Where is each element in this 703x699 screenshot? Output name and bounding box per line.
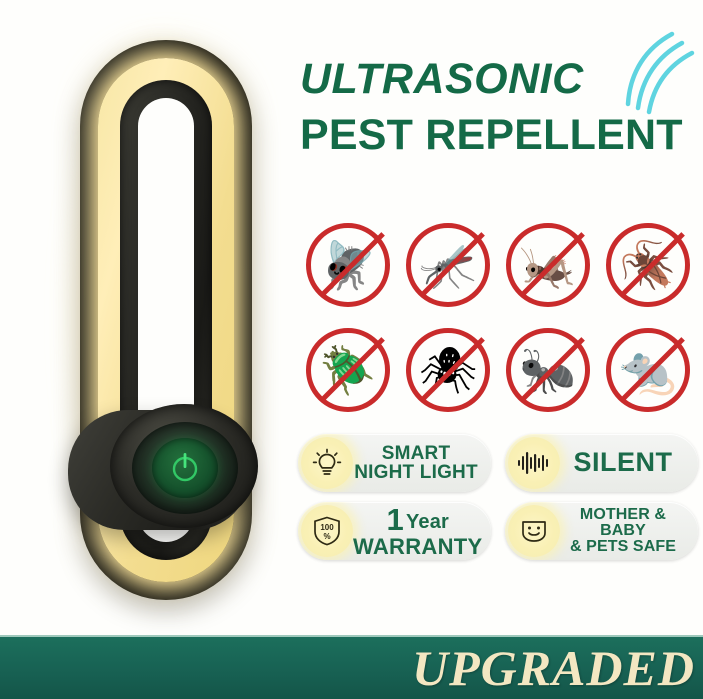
feature-badge-silent: SILENT [505,434,698,492]
pest-item-mouse: 🐀 [598,317,698,422]
pest-item-flea: 🪲 [298,317,398,422]
product-device [28,18,288,618]
upgraded-banner: UPGRADED [0,635,703,699]
pest-item-spider: 🕷 [398,317,498,422]
prohibition-icon [306,328,390,412]
advertisement-canvas: ULTRASONIC PEST REPELLENT 🪰 🦟 🦗 🪳 [0,0,703,699]
svg-text:100: 100 [320,523,334,532]
shield-100-percent-icon: 100 % [301,505,353,557]
warranty-line-2: WARRANTY [353,536,483,558]
prohibition-icon [406,223,490,307]
feature-badge-label: SILENT [560,449,686,477]
prohibition-icon [606,223,690,307]
lightbulb-icon [301,437,353,489]
feature-badge-safe: MOTHER & BABY & PETS SAFE [505,502,698,560]
svg-text:%: % [323,532,330,541]
prohibition-icon [606,328,690,412]
warranty-number: 1 [386,502,403,537]
prohibition-icon [506,328,590,412]
prohibition-icon [406,328,490,412]
pest-item-cockroach: 🪳 [598,212,698,317]
feature-badge-label: 1Year WARRANTY [353,504,483,558]
smiley-face-icon [508,505,560,557]
feature-badge-smart-night-light: SMART NIGHT LIGHT [298,434,491,492]
pest-item-cricket: 🦗 [498,212,598,317]
smart-line-2: NIGHT LIGHT [354,462,478,483]
warranty-unit: Year [406,511,449,533]
safe-line-2: & PETS SAFE [570,538,676,555]
pest-item-ant: 🐜 [498,317,598,422]
feature-badges: SMART NIGHT LIGHT [298,434,698,570]
prohibition-icon [506,223,590,307]
ultrasonic-wave-icon [616,22,702,126]
smart-line-1: SMART [382,443,451,464]
feature-badge-row-2: 100 % 1Year WARRANTY [298,502,698,560]
pest-item-mosquito: 🦟 [398,212,498,317]
pest-item-fly: 🪰 [298,212,398,317]
feature-badge-label: SMART NIGHT LIGHT [353,444,479,483]
power-icon [169,450,201,484]
feature-badge-warranty: 100 % 1Year WARRANTY [298,502,491,560]
pest-icon-grid: 🪰 🦟 🦗 🪳 🪲 🕷 🐜 🐀 [298,212,698,422]
prohibition-icon [306,223,390,307]
banner-text: UPGRADED [412,639,695,697]
feature-badge-row-1: SMART NIGHT LIGHT [298,434,698,492]
feature-badge-label: MOTHER & BABY & PETS SAFE [560,507,686,556]
sound-wave-icon [508,437,560,489]
safe-line-1: MOTHER & BABY [580,506,666,539]
